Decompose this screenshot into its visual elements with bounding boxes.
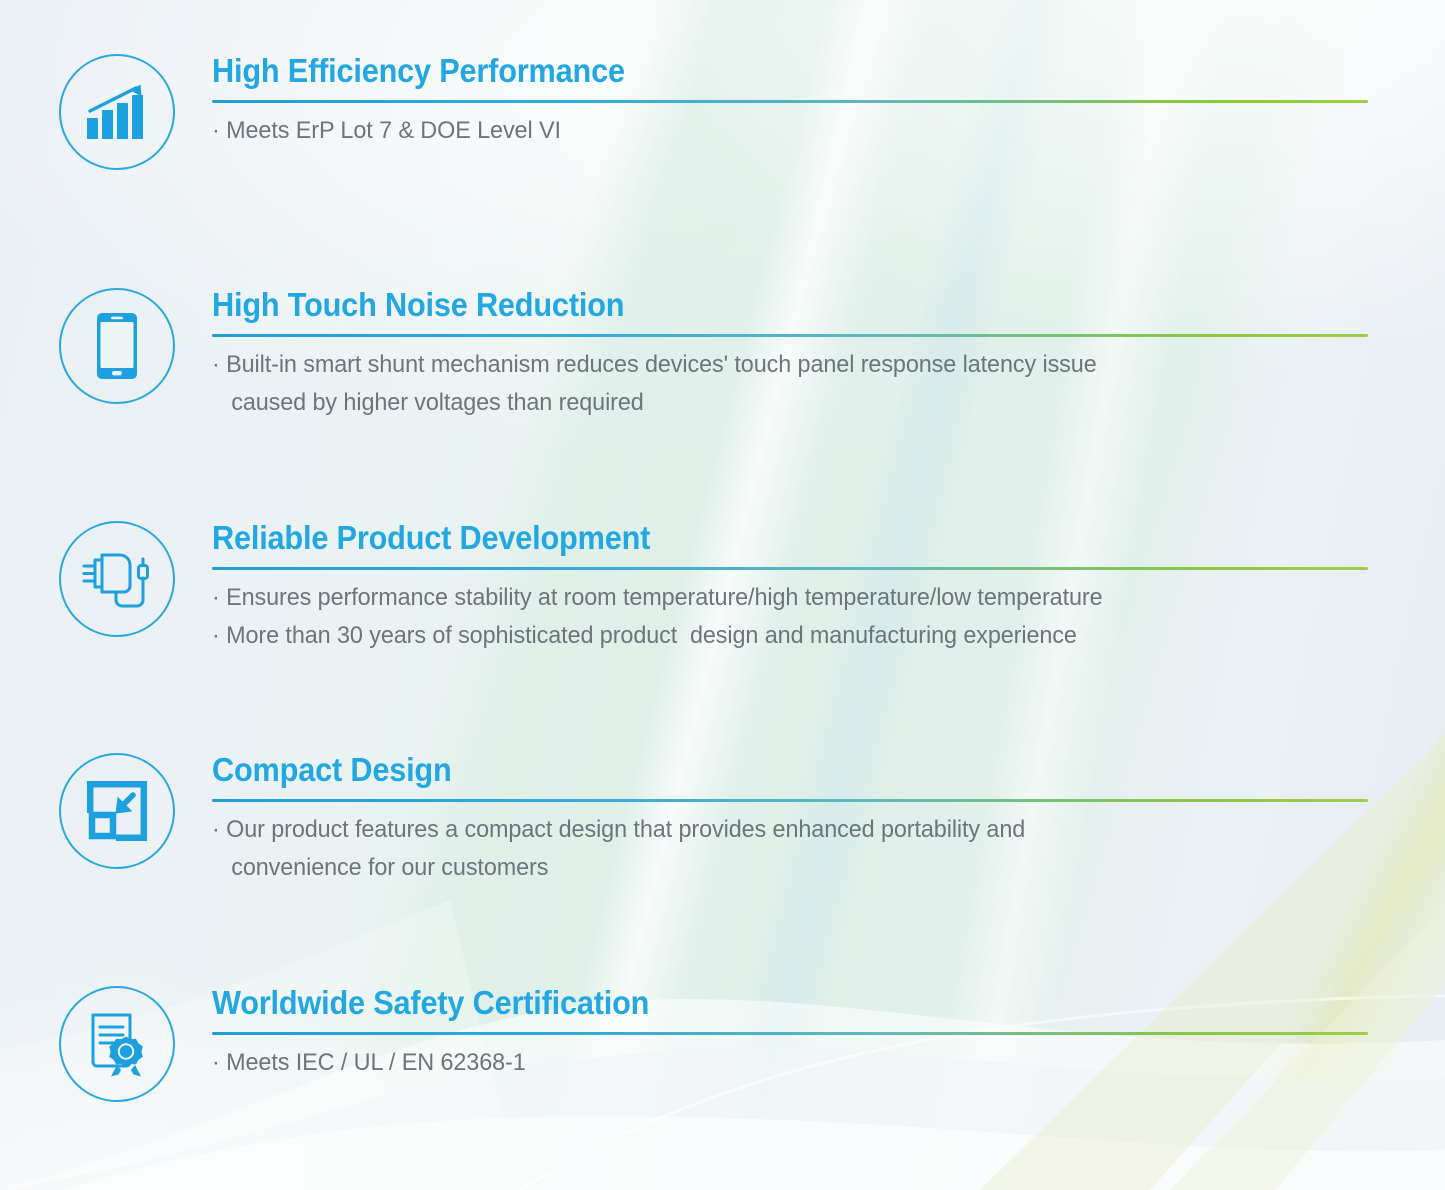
feature-description: · Meets IEC / UL / EN 62368-1	[212, 1044, 1445, 1082]
feature-title: Worldwide Safety Certification	[212, 986, 1359, 1019]
feature-description: · Meets ErP Lot 7 & DOE Level VI	[212, 112, 1445, 150]
feature-divider	[212, 1032, 1368, 1035]
feature-description: · Built-in smart shunt mechanism reduces…	[212, 346, 1445, 422]
feature-divider	[212, 567, 1368, 570]
feature-bullet-line: convenience for our customers	[212, 849, 1414, 887]
feature-body: Worldwide Safety Certification · Meets I…	[212, 986, 1445, 1082]
bar-chart-growth-icon	[59, 54, 175, 170]
feature-bullet-line: · Built-in smart shunt mechanism reduces…	[212, 346, 1414, 384]
feature-description: · Our product features a compact design …	[212, 811, 1445, 887]
feature-body: High Efficiency Performance · Meets ErP …	[212, 54, 1445, 150]
feature-description: · Ensures performance stability at room …	[212, 579, 1445, 655]
feature-divider	[212, 799, 1368, 802]
feature-highlights-page: High Efficiency Performance · Meets ErP …	[0, 0, 1445, 1190]
feature-bullet-line: caused by higher voltages than required	[212, 384, 1414, 422]
feature-title: High Efficiency Performance	[212, 54, 1359, 87]
feature-divider	[212, 334, 1368, 337]
feature-body: High Touch Noise Reduction · Built-in sm…	[212, 288, 1445, 422]
feature-bullet-line: · More than 30 years of sophisticated pr…	[212, 617, 1414, 655]
feature-body: Reliable Product Development · Ensures p…	[212, 521, 1445, 655]
feature-list: High Efficiency Performance · Meets ErP …	[0, 0, 1445, 1190]
feature-bullet-line: · Meets IEC / UL / EN 62368-1	[212, 1044, 1414, 1082]
compact-resize-icon	[59, 753, 175, 869]
feature-bullet-line: · Ensures performance stability at room …	[212, 579, 1414, 617]
smartphone-icon	[59, 288, 175, 404]
feature-title: Compact Design	[212, 753, 1359, 786]
power-adapter-icon	[59, 521, 175, 637]
feature-bullet-line: · Our product features a compact design …	[212, 811, 1414, 849]
feature-title: Reliable Product Development	[212, 521, 1359, 554]
certificate-seal-icon	[59, 986, 175, 1102]
feature-bullet-line: · Meets ErP Lot 7 & DOE Level VI	[212, 112, 1414, 150]
feature-body: Compact Design · Our product features a …	[212, 753, 1445, 887]
feature-divider	[212, 100, 1368, 103]
feature-title: High Touch Noise Reduction	[212, 288, 1359, 321]
